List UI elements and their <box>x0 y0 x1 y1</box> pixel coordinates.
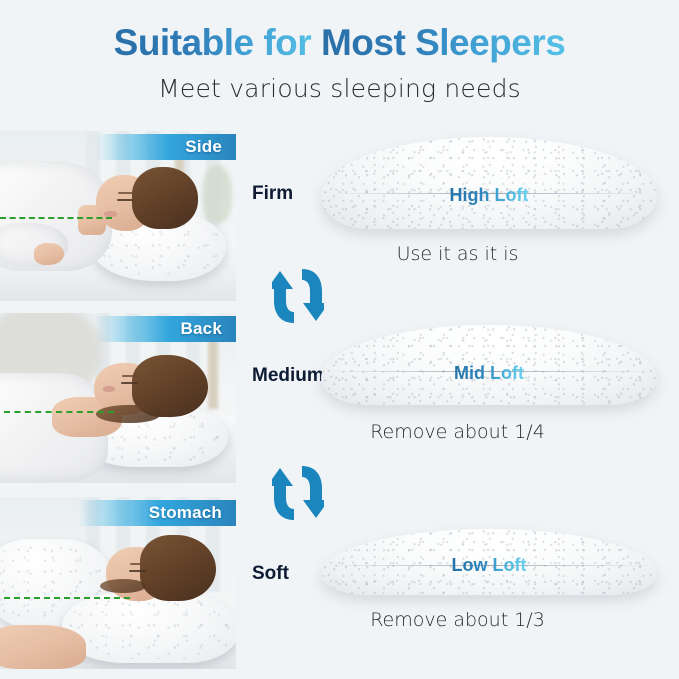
sleeper-lips <box>103 386 115 392</box>
page-subtitle: Meet various sleeping needs <box>0 74 679 103</box>
loft-row-soft: Soft Low Loft Remove about 1/3 <box>236 497 679 669</box>
page-title-part1: Suitable for <box>114 22 321 63</box>
firmness-label-soft: Soft <box>252 563 289 585</box>
sleeper-eyebrow <box>118 192 133 194</box>
position-label-back: Back <box>181 319 222 339</box>
photo-side-sleeper: Side <box>0 131 236 301</box>
sleeper-closed-eye <box>129 570 147 572</box>
page-title: Suitable for Most Sleepers <box>0 22 679 64</box>
loft-caption-soft: Remove about 1/3 <box>236 609 679 631</box>
position-label-stomach: Stomach <box>149 503 222 523</box>
position-banner-stomach: Stomach <box>78 500 236 526</box>
photo-stomach-sleeper: Stomach <box>0 497 236 669</box>
sleeper-closed-eye <box>121 382 138 384</box>
sleeper-closed-eye <box>117 199 133 201</box>
loft-caption-medium: Remove about 1/4 <box>236 421 679 443</box>
alignment-line-stomach <box>4 597 130 599</box>
alignment-line-side <box>0 217 112 219</box>
sleeper-shoulder <box>0 625 86 669</box>
photo-pillow-stomach <box>62 593 236 663</box>
firmness-label-firm: Firm <box>252 183 293 205</box>
product-pillow-low-loft: Low Loft <box>321 529 657 595</box>
sleeper-hair-front <box>100 579 146 593</box>
position-banner-back: Back <box>96 316 236 342</box>
alignment-line-back <box>4 411 114 413</box>
page-title-part2: Most Sleepers <box>321 22 565 63</box>
loft-label-low: Low Loft <box>321 555 657 576</box>
sleeper-hair <box>132 167 198 229</box>
product-pillow-mid-loft: Mid Loft <box>321 325 657 405</box>
position-label-side: Side <box>185 137 222 157</box>
loft-label-high-text: High Loft <box>450 185 529 205</box>
sleeper-hair-strand <box>96 405 160 423</box>
sleeper-eyebrow <box>130 563 146 565</box>
loft-label-mid-text: Mid Loft <box>454 363 524 383</box>
loft-label-low-text: Low Loft <box>452 555 527 575</box>
loft-label-high: High Loft <box>321 185 657 206</box>
sleeper-eyebrow <box>122 375 138 377</box>
sleeper-hand <box>34 243 64 265</box>
loft-label-mid: Mid Loft <box>321 363 657 384</box>
loft-row-medium: Medium Mid Loft Remove about 1/4 <box>236 313 679 483</box>
photo-back-sleeper: Back <box>0 313 236 483</box>
product-pillow-high-loft: High Loft <box>321 137 657 229</box>
infographic-canvas: Suitable for Most Sleepers Meet various … <box>0 0 679 679</box>
position-banner-side: Side <box>96 134 236 160</box>
pillow-texture <box>321 137 657 229</box>
loft-caption-firm: Use it as it is <box>236 243 679 265</box>
background-bedpost <box>208 335 218 409</box>
firmness-label-medium: Medium <box>252 365 324 387</box>
sleeper-hair <box>140 535 216 601</box>
background-plant <box>202 165 232 223</box>
header: Suitable for Most Sleepers Meet various … <box>0 0 679 122</box>
